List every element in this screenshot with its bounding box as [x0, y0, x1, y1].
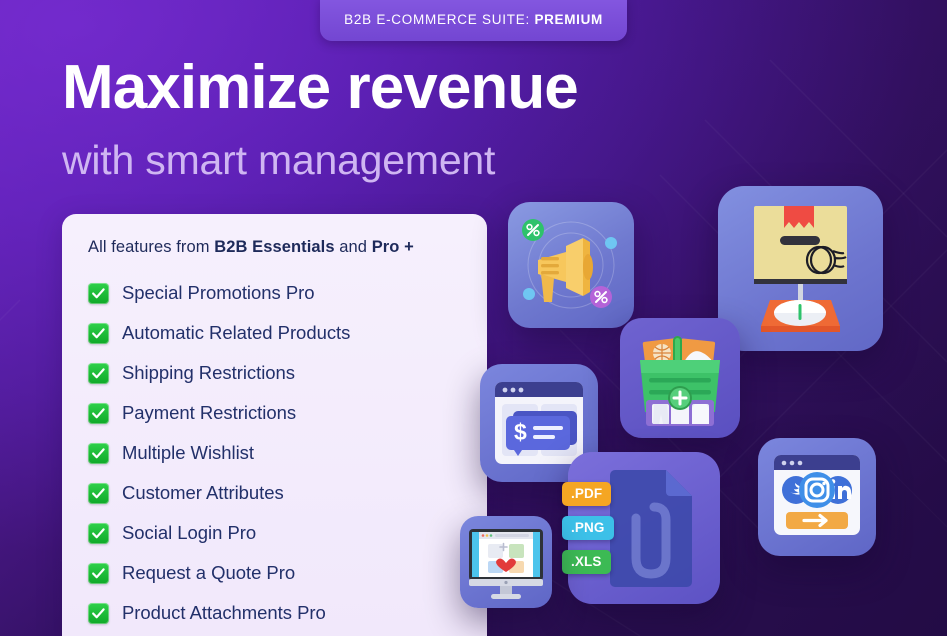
- discount-badge-icon: [522, 219, 544, 241]
- feature-label: Special Promotions Pro: [122, 282, 315, 304]
- social-login-card: [758, 438, 876, 556]
- list-item: Payment Restrictions: [88, 393, 461, 433]
- check-icon: [88, 363, 109, 384]
- file-type-badge: .PDF: [562, 482, 611, 506]
- dot-decoration: [605, 237, 617, 249]
- list-item: Multiple Wishlist: [88, 433, 461, 473]
- list-item: Product Attachments Pro: [88, 593, 461, 633]
- suite-badge: B2B E-COMMERCE SUITE: PREMIUM: [320, 0, 627, 41]
- check-icon: [88, 603, 109, 624]
- megaphone-icon: [538, 238, 593, 302]
- check-icon: [88, 483, 109, 504]
- wishlist-card: [620, 318, 740, 438]
- attachments-card: .PDF .PNG .XLS: [568, 452, 720, 604]
- check-icon: [88, 323, 109, 344]
- feature-label: Social Login Pro: [122, 522, 256, 544]
- list-item: Automatic Related Products: [88, 313, 461, 353]
- feature-label: Shipping Restrictions: [122, 362, 295, 384]
- feature-label: Multiple Wishlist: [122, 442, 254, 464]
- page-title: Maximize revenue: [62, 55, 578, 120]
- check-icon: [88, 563, 109, 584]
- page-subtitle: with smart management: [62, 138, 495, 183]
- file-type-badge: .PNG: [562, 516, 614, 540]
- promotions-card: [508, 202, 634, 328]
- package-on-scale-icon: [754, 206, 847, 332]
- list-item: Social Login Pro: [88, 513, 461, 553]
- suite-badge-label: B2B E-COMMERCE SUITE: PREMIUM: [344, 12, 603, 27]
- check-icon: [88, 283, 109, 304]
- monitor-card: [460, 516, 552, 608]
- features-panel: All features from B2B Essentials and Pro…: [62, 214, 487, 636]
- svg-text:$: $: [514, 419, 527, 445]
- list-item: Customer Attributes: [88, 473, 461, 513]
- instagram-icon: [799, 472, 835, 508]
- feature-label: Request a Quote Pro: [122, 562, 295, 584]
- promo-banner: B2B E-COMMERCE SUITE: PREMIUM Maximize r…: [0, 0, 947, 636]
- check-icon: [88, 403, 109, 424]
- check-icon: [88, 523, 109, 544]
- feature-label: Payment Restrictions: [122, 402, 296, 424]
- shopping-basket-icon: [640, 336, 720, 426]
- feature-label: Product Attachments Pro: [122, 602, 326, 624]
- file-type-badge: .XLS: [562, 550, 611, 574]
- discount-badge-icon: [590, 286, 612, 308]
- check-icon: [88, 443, 109, 464]
- monitor-wishlist-heart-icon: [469, 529, 543, 599]
- feature-label: Customer Attributes: [122, 482, 284, 504]
- features-intro: All features from B2B Essentials and Pro…: [88, 238, 461, 257]
- list-item: Special Promotions Pro: [88, 273, 461, 313]
- list-item: Shipping Restrictions: [88, 353, 461, 393]
- file-attachment-icon: [610, 470, 692, 587]
- social-login-browser-icon: [774, 455, 860, 535]
- feature-label: Automatic Related Products: [122, 322, 350, 344]
- shipping-card: [718, 186, 883, 351]
- list-item: Request a Quote Pro: [88, 553, 461, 593]
- dot-decoration: [523, 288, 535, 300]
